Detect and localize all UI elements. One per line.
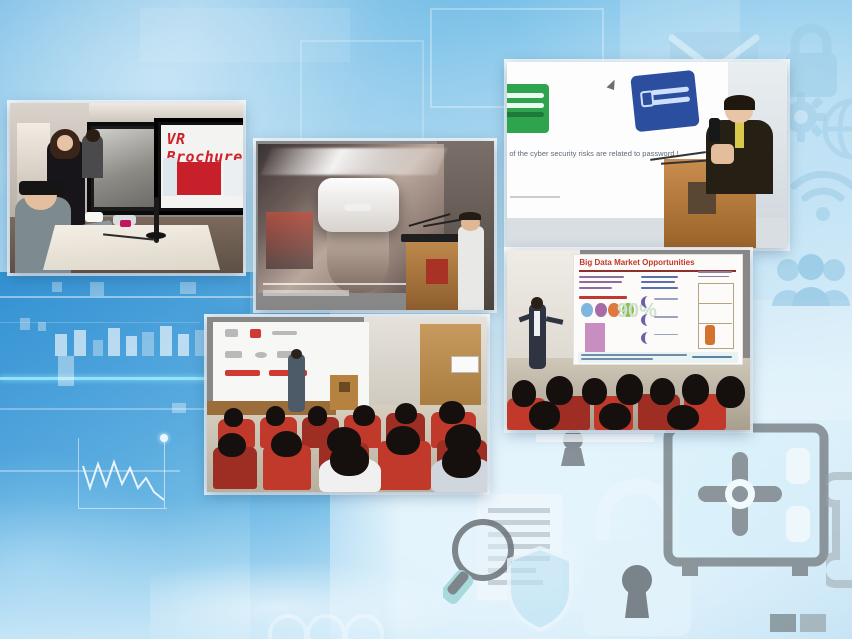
vr-headset-on-user	[19, 181, 63, 195]
slide-footnote	[510, 196, 560, 198]
audience-head	[224, 408, 244, 427]
slide-text-line	[641, 287, 678, 289]
handheld-microphone	[709, 118, 720, 142]
footer-block	[770, 614, 796, 632]
slide-text-line	[654, 316, 678, 318]
speaker-tie	[735, 122, 743, 148]
vr-headset-talk-photo[interactable]	[256, 141, 494, 310]
slide-arc-bullet	[641, 332, 655, 344]
slide-logo	[225, 351, 242, 358]
ghost-block	[745, 300, 852, 420]
projected-vr-headset	[318, 178, 399, 232]
video-toolbar	[263, 290, 349, 296]
people-group-icon	[770, 254, 852, 310]
presenter-head	[291, 349, 302, 360]
audience-head	[330, 443, 369, 476]
slide-logo	[255, 352, 268, 359]
slide-bubble	[581, 303, 593, 318]
bar-chart-block	[172, 403, 186, 413]
slide-thumb	[224, 160, 243, 197]
slide-arc-bullet	[641, 314, 655, 326]
slide-arc-bullet	[641, 296, 655, 308]
audience-head	[529, 401, 561, 430]
ghost-block	[140, 8, 350, 62]
audience-head	[386, 426, 420, 456]
audience-head	[439, 401, 464, 424]
green-password-card-graphic	[507, 84, 549, 132]
big-data-talk-photo[interactable]: Big Data Market Opportunities 90%	[507, 250, 750, 430]
footer-block	[800, 614, 826, 632]
tech-grid-line	[0, 296, 300, 298]
display-right: VR Brochure	[154, 118, 243, 214]
ring-decoration-icon	[266, 608, 386, 639]
safe-vault-icon-partial	[826, 470, 852, 590]
demo-table	[43, 225, 220, 270]
slide-text-line	[654, 298, 678, 300]
tech-grid-line	[0, 322, 200, 323]
slide-building-graphic	[585, 323, 605, 352]
audience-head	[667, 405, 699, 430]
slide-text-line	[579, 281, 622, 283]
bar-chart-block	[38, 322, 46, 331]
wifi-icon	[788, 168, 852, 224]
slide-text-line	[698, 276, 729, 278]
bar-chart-block	[93, 340, 103, 356]
slide-text-line	[692, 356, 733, 358]
lectern-emblem	[339, 382, 350, 391]
padlock-icon-top	[778, 20, 844, 102]
bar-chart-block	[55, 334, 67, 356]
audience-head	[682, 374, 709, 405]
audience-head	[599, 403, 631, 430]
slide-text-line	[698, 271, 732, 273]
speaker-hair	[724, 95, 755, 110]
audience-head	[546, 376, 573, 405]
bar-chart-block	[142, 332, 154, 356]
safe-vault-icon	[660, 420, 840, 590]
slide-thumb	[163, 158, 177, 196]
slide-text-line	[579, 276, 623, 278]
photo-content	[207, 317, 487, 492]
bar-chart-block	[58, 356, 74, 386]
collage-canvas: VR Brochure	[0, 0, 852, 639]
table-prop-red	[120, 220, 132, 227]
background-person-head	[86, 129, 100, 143]
slide-text-line	[641, 276, 678, 278]
presenter-body	[288, 354, 305, 412]
photo-content	[256, 141, 494, 310]
vr-brochure-demo-photo[interactable]: VR Brochure	[10, 103, 243, 273]
bar-chart-block	[126, 336, 137, 356]
slide-text-line	[654, 334, 678, 336]
bar-chart-block	[52, 282, 62, 292]
big-data-slide: Big Data Market Opportunities 90%	[573, 254, 743, 366]
audience-head	[271, 431, 302, 457]
bar-chart-block	[180, 282, 196, 294]
cyber-security-keynote-photo[interactable]: st of the cyber security risks are relat…	[507, 62, 787, 248]
bar-chart-block	[90, 282, 104, 296]
presenter-shirt	[534, 311, 540, 336]
audience-head	[716, 376, 745, 408]
auditorium-audience-photo[interactable]	[207, 317, 487, 492]
slide-logo	[225, 329, 238, 337]
photo-content: st of the cyber security risks are relat…	[507, 62, 787, 248]
slide-button	[225, 370, 259, 376]
slide-text-line	[581, 354, 686, 356]
video-progress-bar	[263, 283, 406, 285]
table-prop	[85, 212, 104, 222]
slide-bubble	[595, 303, 607, 318]
bar-chart-block	[178, 334, 189, 356]
bar-chart-block	[195, 330, 207, 356]
globe-icon	[820, 96, 852, 162]
lectern	[330, 375, 358, 410]
audience-head	[395, 403, 417, 424]
photo-content: Big Data Market Opportunities 90%	[507, 250, 750, 430]
lock-glyph	[640, 90, 655, 108]
slide-logo	[250, 329, 261, 338]
audience-head	[353, 405, 375, 426]
bar-chart-block	[160, 326, 172, 356]
speaker-body	[458, 226, 484, 311]
audience-head	[616, 374, 643, 405]
slide-ladder-rung	[698, 303, 732, 305]
slide-ladder-rung	[698, 323, 732, 325]
presenter-woman-face	[57, 135, 73, 150]
photo-content: VR Brochure	[10, 103, 243, 273]
blue-lock-card-graphic	[630, 70, 700, 132]
footer-block	[536, 434, 654, 442]
bar-chart-block	[74, 330, 86, 356]
audience-head	[582, 378, 606, 405]
audience-head	[442, 445, 481, 478]
slide-text-line	[579, 287, 611, 289]
bar-chart-block	[108, 328, 120, 356]
slide-ladder-graphic	[698, 283, 734, 350]
speaker-hair	[459, 212, 480, 220]
audience-head	[650, 378, 674, 405]
slide-person-graphic	[705, 325, 715, 345]
notice-board	[451, 356, 478, 374]
big-data-slide-title: Big Data Market Opportunities	[579, 258, 694, 267]
audience-head	[512, 380, 536, 407]
slide-text-line	[641, 281, 675, 283]
audience-head	[218, 433, 246, 458]
slide-logo	[272, 331, 297, 335]
bar-chart-block	[20, 318, 30, 330]
audience-head	[308, 406, 328, 425]
slide-text-line	[581, 358, 652, 360]
projected-city-lights	[266, 212, 314, 269]
audience-head	[266, 406, 286, 425]
speaker-hands	[711, 144, 733, 164]
slide-subheading	[579, 296, 627, 299]
screen-light-streak	[260, 148, 447, 175]
